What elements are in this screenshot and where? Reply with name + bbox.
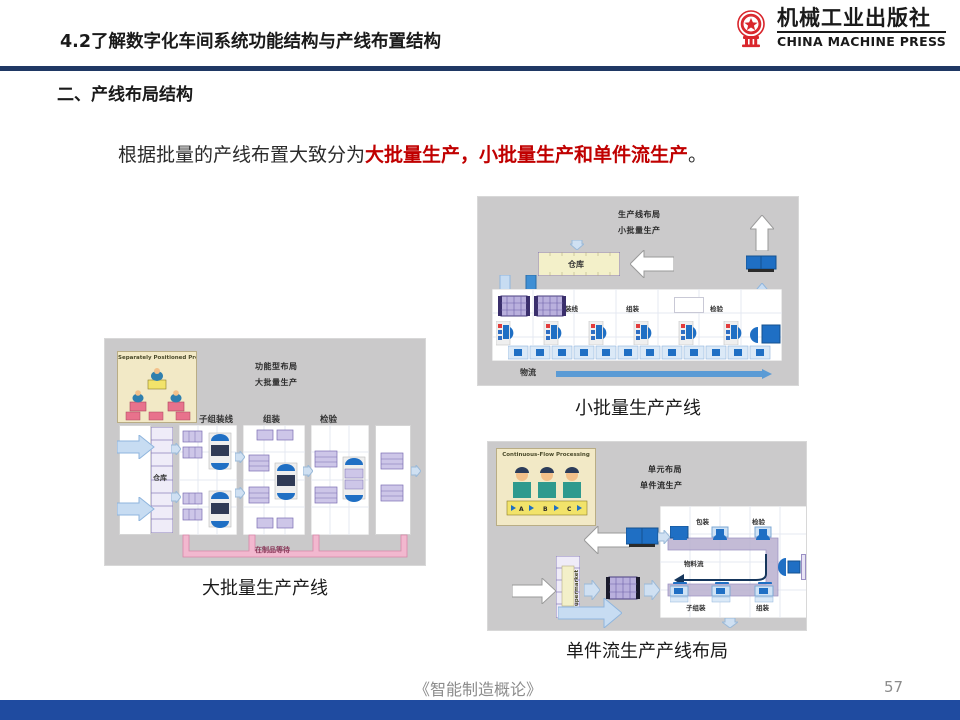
- chevron-icon: [644, 580, 660, 600]
- operator-icon: [774, 554, 804, 580]
- inbound-arrow-bottom-icon: [117, 497, 155, 521]
- publisher-name-en: CHINA MACHINE PRESS: [777, 36, 946, 49]
- cell-stations-top: [670, 526, 790, 550]
- material-flow-arrow-icon: [556, 369, 772, 379]
- side-rack: [801, 554, 806, 580]
- return-arrow-icon: [630, 250, 674, 278]
- empty-slot: [674, 297, 704, 313]
- figure-caption-one-piece-flow: 单件流生产产线布局: [487, 637, 807, 663]
- illustration-separately-positioned: Separately Positioned Processing: [117, 351, 197, 423]
- chevron-icon: [411, 465, 421, 477]
- outbound-arrow-icon: [584, 526, 630, 554]
- publisher-name-cn: 机械工业出版社: [777, 8, 946, 33]
- paragraph-prefix: 根据批量的产线布置大致分为: [118, 144, 365, 166]
- body-paragraph: 根据批量的产线布置大致分为大批量生产，小批量生产和单件流生产。: [118, 142, 908, 169]
- figure-small-batch: 生产线布局 小批量生产 仓库: [477, 196, 799, 386]
- stage-label-assembly: 组装: [626, 303, 639, 313]
- publisher-logo: 机械工业出版社 CHINA MACHINE PRESS: [732, 8, 946, 49]
- warehouse-label: 仓库: [153, 473, 167, 483]
- wip-bracket: [179, 531, 411, 563]
- chevron-icon: [658, 530, 670, 544]
- paragraph-highlight: 大批量生产，小批量生产和单件流生产: [365, 144, 688, 166]
- machines-assembly: [243, 425, 305, 535]
- diagram-title-line2: 小批量生产: [618, 225, 661, 236]
- machines-subassembly: [179, 425, 237, 535]
- header-divider: [0, 66, 960, 71]
- diagram-title-line1: 生产线布局: [618, 209, 661, 220]
- cell-stations-bottom: [670, 582, 790, 606]
- wip-label: 在制品等待: [255, 545, 290, 555]
- diagram-big-batch: Separately Positioned Processing: [104, 338, 426, 566]
- svg-text:C: C: [567, 506, 572, 513]
- machine-grid-icon: [534, 295, 566, 317]
- figure-caption-big-batch: 大批量生产产线: [104, 574, 426, 600]
- outfeed-arrow-icon: [750, 215, 774, 251]
- footer-bar: [0, 700, 960, 720]
- chevron-icon: [584, 580, 600, 600]
- machine-grid-icon: [498, 295, 530, 317]
- diagram-one-piece-flow: Continuous-Flow Processing ABC: [487, 441, 807, 631]
- slide-header: 4.2了解数字化车间系统功能结构与产线布置结构 机械: [0, 0, 960, 70]
- stage-label-assembly: 组装: [263, 413, 280, 425]
- diagram-title-line1: 单元布局: [648, 464, 682, 475]
- diagram-title-line2: 单件流生产: [640, 480, 683, 491]
- inbound-arrow-blue-icon: [558, 598, 622, 628]
- inbound-arrow-top-icon: [117, 435, 155, 459]
- chevron-down-icon: [570, 240, 584, 250]
- svg-text:A: A: [519, 506, 524, 513]
- footer-page-number: 57: [884, 678, 903, 696]
- china-machine-press-seal-icon: [732, 8, 770, 48]
- workstation-row: [496, 321, 782, 347]
- paragraph-suffix: 。: [688, 144, 707, 166]
- container-icon: [746, 253, 778, 273]
- figure-one-piece-flow: Continuous-Flow Processing ABC: [487, 441, 807, 631]
- inbound-arrow-icon: [512, 578, 556, 604]
- section-heading: 二、产线布局结构: [57, 80, 193, 105]
- diagram-title-line2: 大批量生产: [255, 377, 298, 388]
- figure-big-batch: Separately Positioned Processing: [104, 338, 426, 566]
- container-icon: [626, 526, 660, 550]
- diagram-small-batch: 生产线布局 小批量生产 仓库: [477, 196, 799, 386]
- stage-label-inspection: 检验: [710, 303, 723, 313]
- machine-grid-icon: [606, 576, 640, 600]
- diagram-title-line1: 功能型布局: [255, 361, 298, 372]
- warehouse-label: 仓库: [568, 259, 584, 270]
- machines-inspection: [311, 425, 369, 535]
- stage-label-packaging: 包装: [696, 516, 709, 526]
- figure-caption-small-batch: 小批量生产产线: [477, 394, 799, 420]
- stage-label-inspection: 检验: [320, 413, 337, 425]
- stage-label-subassembly: 子组装线: [199, 413, 233, 425]
- svg-text:B: B: [543, 506, 548, 513]
- conveyor-row: [508, 345, 776, 361]
- footer-book-title: 《智能制造概论》: [414, 676, 542, 700]
- chevron-down-icon: [722, 618, 738, 628]
- material-flow-label: 物流: [520, 367, 536, 378]
- material-flow-u-arrow-icon: [670, 550, 780, 584]
- illustration-continuous-flow: Continuous-Flow Processing ABC: [496, 448, 596, 526]
- machines-outbound: [375, 449, 411, 515]
- page-title: 4.2了解数字化车间系统功能结构与产线布置结构: [60, 28, 441, 53]
- stage-label-inspection: 检验: [752, 516, 765, 526]
